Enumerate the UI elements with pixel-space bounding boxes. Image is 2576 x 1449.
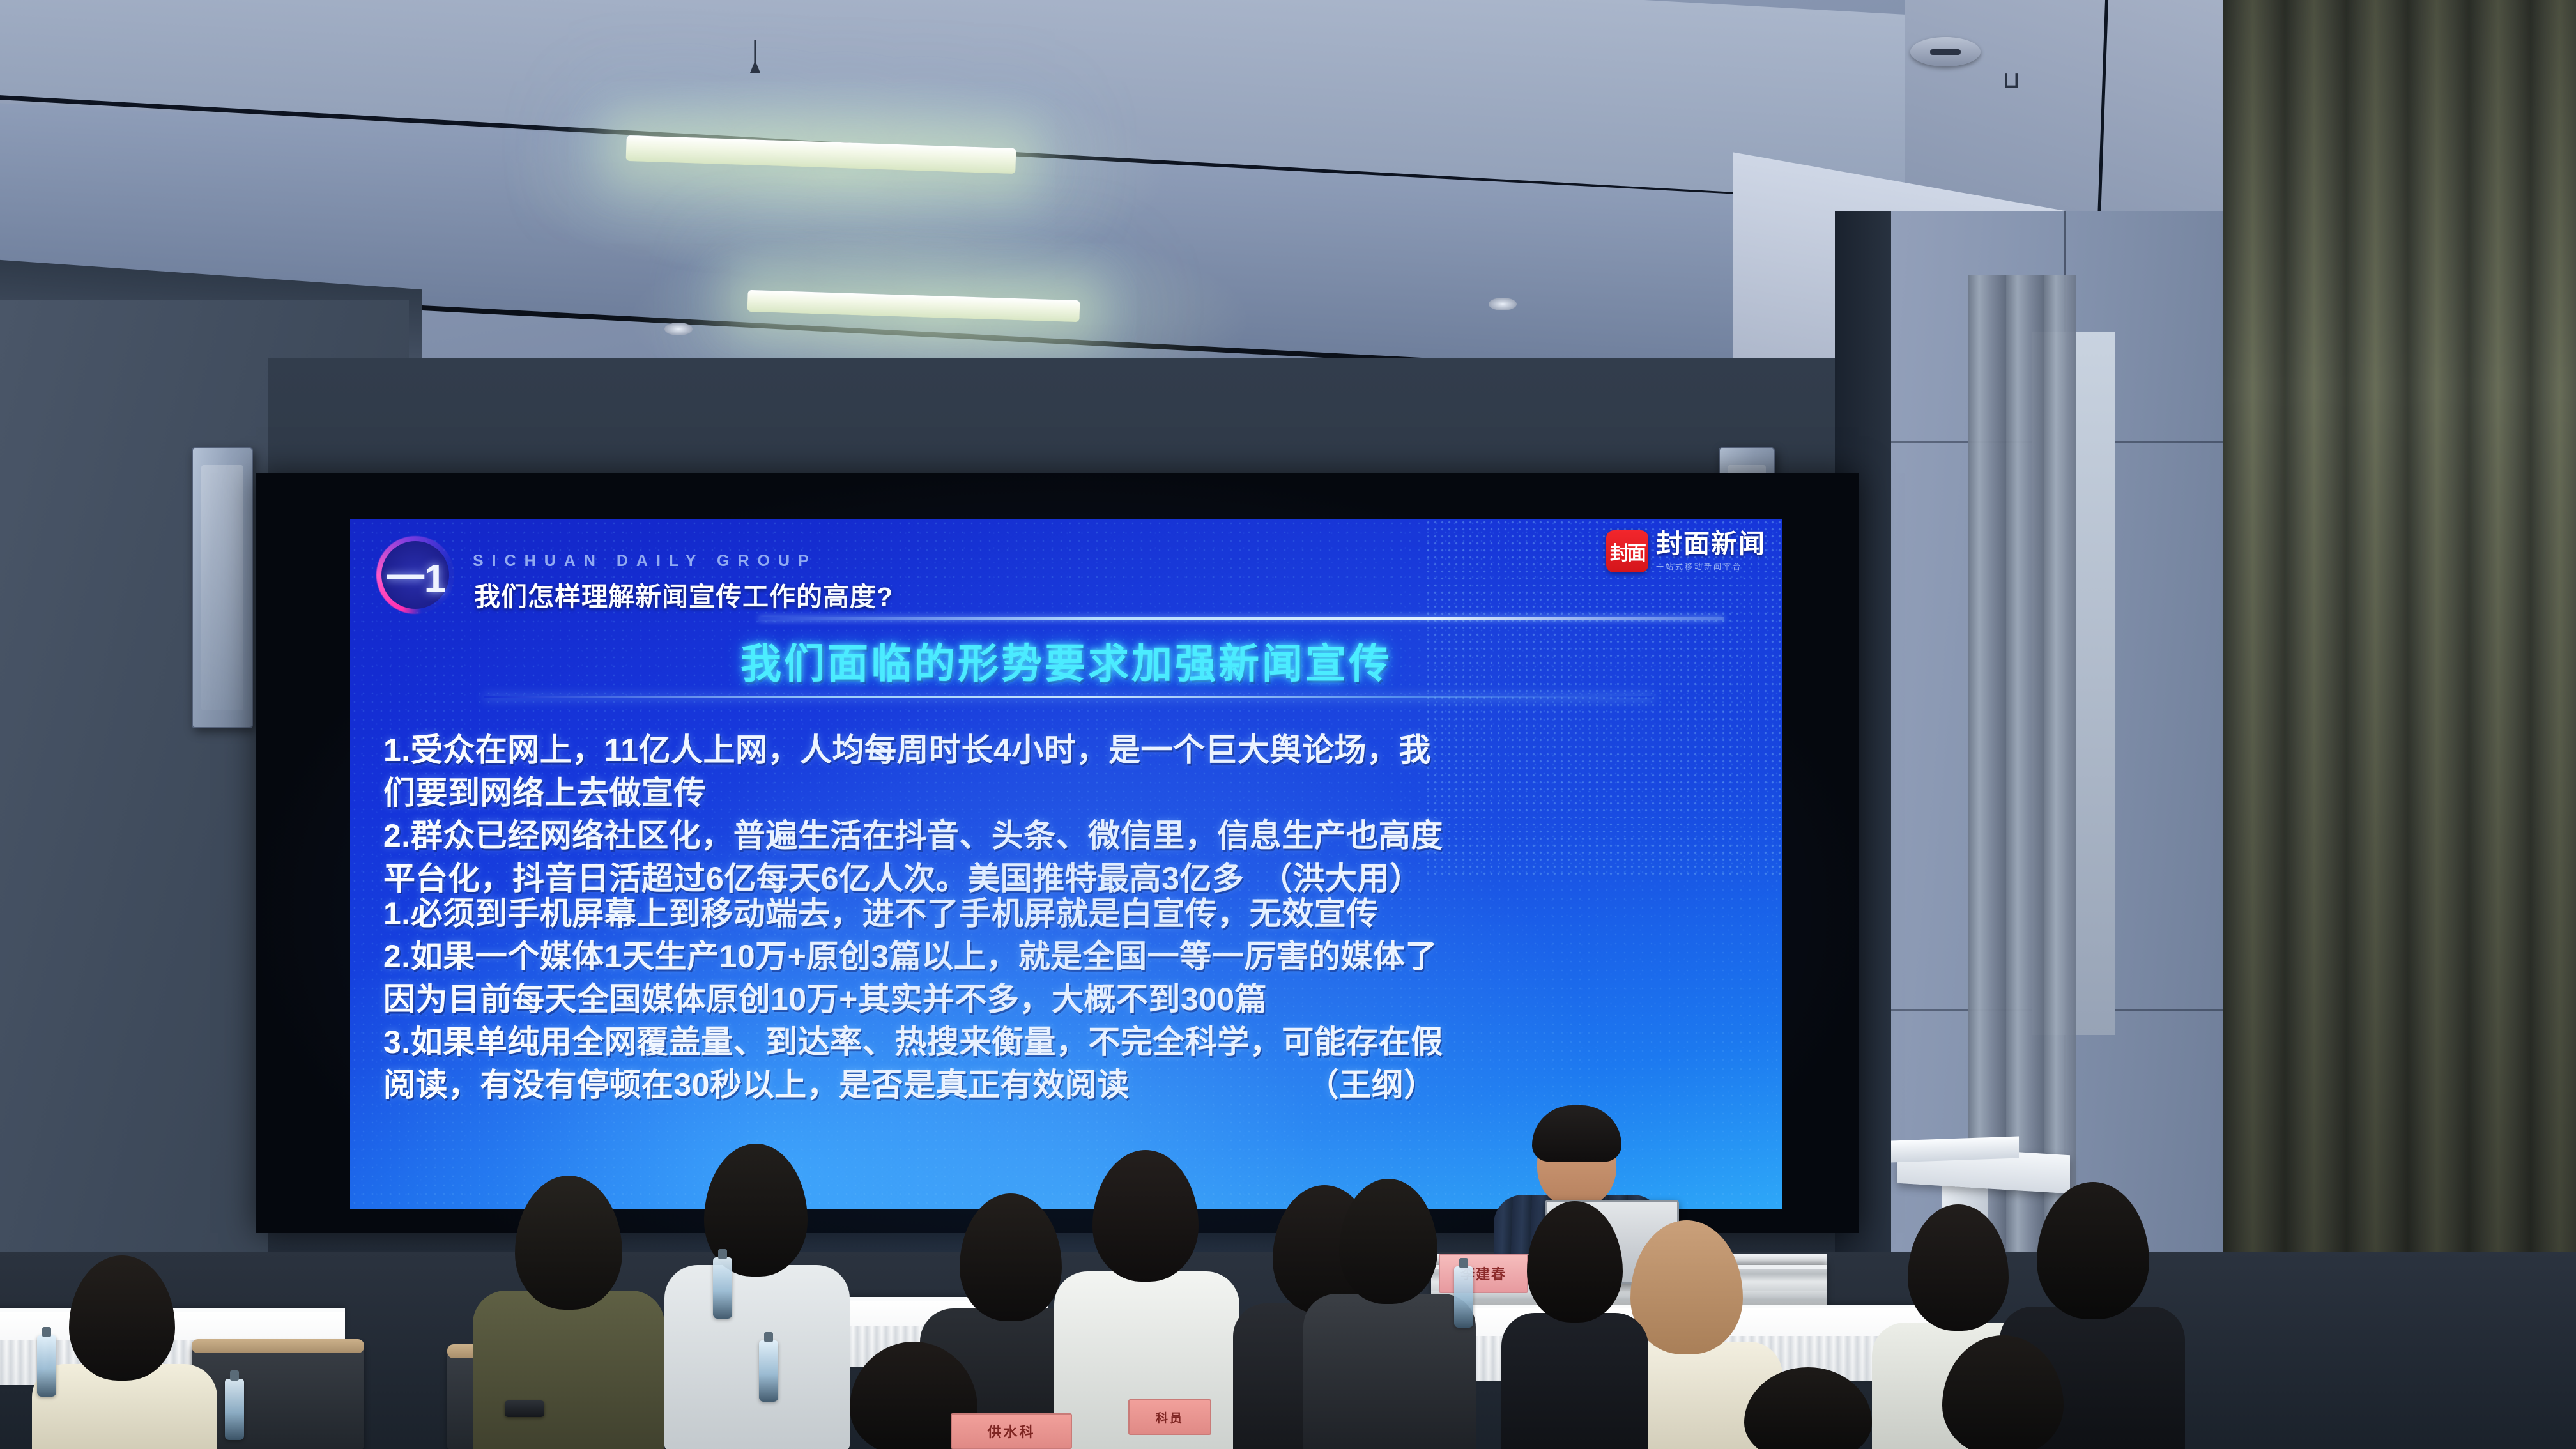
- audience-person: [32, 1255, 217, 1449]
- presenter-hair: [1532, 1105, 1621, 1161]
- sprinkler-head-icon: ⊔: [2003, 69, 2017, 92]
- logo-mark-icon: 封面: [1606, 530, 1648, 572]
- slide-line: 2.群众已经网络社区化，普遍生活在抖音、头条、微信里，信息生产也高度: [383, 815, 1757, 857]
- slide-line: 2.如果一个媒体1天生产10万+原创3篇以上，就是全国一等一厉害的媒体了: [383, 936, 1757, 977]
- audience-chair: [192, 1342, 364, 1449]
- conference-room-scene: ⊔ 一1 SICHUAN DAILY GROUP 我们怎样理解新闻宣传工作的高度…: [0, 0, 2576, 1449]
- person-torso: [1303, 1294, 1476, 1449]
- slide-body-block-b: 1.必须到手机屏幕上到移动端去，进不了手机屏就是白宣传，无效宣传 2.如果一个媒…: [383, 893, 1757, 1107]
- lectern-top: [1891, 1137, 2019, 1163]
- person-head: [1339, 1179, 1437, 1304]
- slide-header-question: 我们怎样理解新闻宣传工作的高度?: [474, 575, 893, 613]
- title-divider-streak: [484, 696, 1653, 698]
- water-bottle: [37, 1335, 56, 1397]
- curtain-secondary: [1968, 275, 2076, 1284]
- person-head: [1744, 1367, 1872, 1449]
- audience-person: [1904, 1335, 2108, 1449]
- slide-line: 1.受众在网上，11亿人上网，人均每周时长4小时，是一个巨大舆论场，我: [383, 730, 1757, 771]
- slide-body-block-a: 1.受众在网上，11亿人上网，人均每周时长4小时，是一个巨大舆论场，我 们要到网…: [383, 730, 1757, 901]
- audience-nameplate: 供水科: [951, 1413, 1072, 1449]
- person-head: [1527, 1201, 1623, 1322]
- wall-speaker-left: [192, 447, 253, 728]
- slide-line: 因为目前每天全国媒体原创10万+其实并不多，大概不到300篇: [383, 979, 1757, 1020]
- person-head: [960, 1193, 1062, 1321]
- person-head: [515, 1176, 622, 1310]
- brand-logo: 封面 封面新闻 一站式移动新闻平台: [1606, 530, 1766, 572]
- slide-line: 3.如果单纯用全网覆盖量、到达率、热搜来衡量，不完全科学，可能存在假: [383, 1022, 1757, 1063]
- person-head: [69, 1255, 175, 1381]
- person-head: [1942, 1335, 2064, 1449]
- person-torso: [473, 1291, 664, 1449]
- water-bottle: [713, 1257, 732, 1319]
- group-english-name: SICHUAN DAILY GROUP: [473, 552, 817, 571]
- smartphone: [505, 1400, 544, 1417]
- logo-name: 封面新闻: [1656, 531, 1766, 557]
- chair-headrest: [192, 1339, 364, 1353]
- water-bottle: [1454, 1266, 1473, 1328]
- slide-number-badge: 一1: [381, 541, 449, 609]
- water-bottle: [225, 1379, 244, 1440]
- slide-title: 我们面临的形势要求加强新闻宣传: [350, 631, 1782, 690]
- slide-line: 们要到网络上去做宣传: [383, 772, 1757, 814]
- ceiling-spot-icon: [1489, 298, 1517, 310]
- slide-line: 阅读，有没有停顿在30秒以上，是否是真正有效阅读 （王纲）: [383, 1064, 1757, 1106]
- smoke-detector-icon: [1910, 37, 1981, 66]
- audience-person: [1303, 1179, 1476, 1449]
- audience-nameplate: 科员: [1128, 1399, 1211, 1435]
- slide-line: 1.必须到手机屏幕上到移动端去，进不了手机屏就是白宣传，无效宣传: [383, 893, 1757, 935]
- person-head: [1908, 1204, 2009, 1331]
- audience-person: [1712, 1367, 1904, 1449]
- ceiling-spot-icon: [664, 323, 693, 335]
- person-torso: [1501, 1313, 1648, 1449]
- slide-header: 一1 SICHUAN DAILY GROUP 我们怎样理解新闻宣传工作的高度?: [379, 530, 1753, 620]
- person-head: [1092, 1150, 1199, 1282]
- audience-person: [1501, 1201, 1648, 1449]
- logo-tagline: 一站式移动新闻平台: [1656, 561, 1766, 572]
- water-bottle: [759, 1340, 778, 1402]
- curtain-shading: [2223, 0, 2576, 1310]
- audience-person: [473, 1176, 664, 1449]
- person-head-long-hair: [2037, 1182, 2149, 1319]
- header-divider-rule: [759, 617, 1724, 620]
